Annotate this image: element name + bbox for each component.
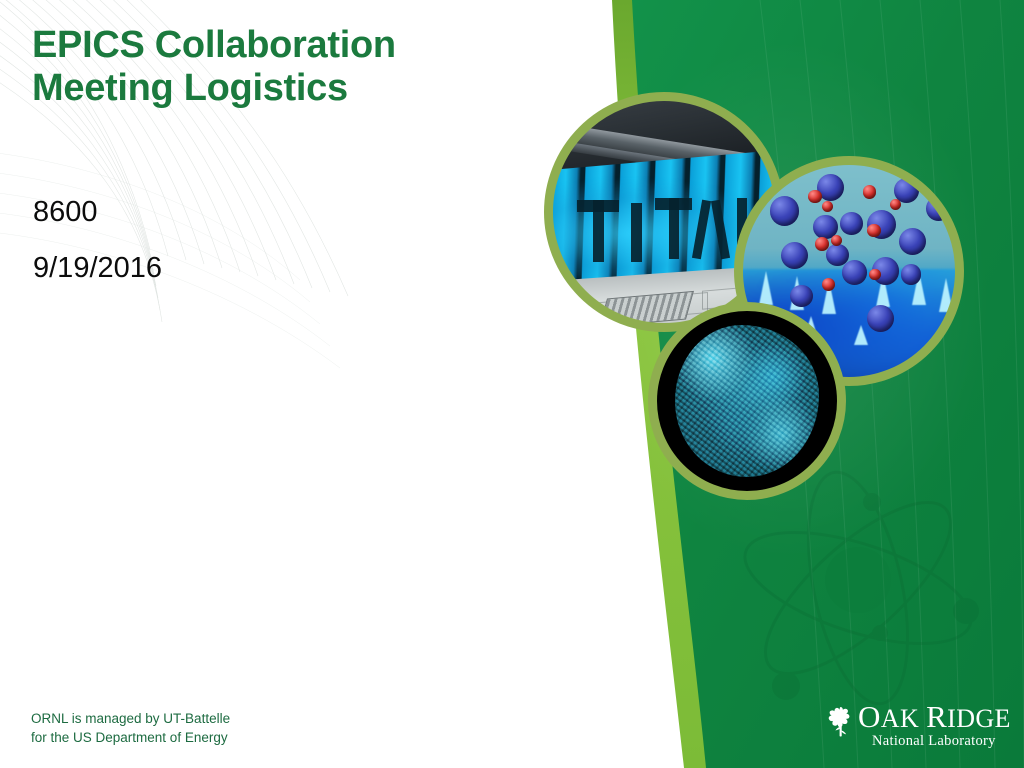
slide-canvas: EPICS Collaboration Meeting Logistics 86… (0, 0, 1024, 768)
ornl-logo-name: OAK RIDGE (858, 702, 1011, 732)
logo-o: O (858, 699, 881, 734)
footer-credit: ORNL is managed by UT-Battelle for the U… (31, 709, 230, 747)
logo-r: R (926, 699, 947, 734)
ornl-logo: OAK RIDGE National Laboratory (826, 702, 998, 754)
slide-body: 8600 9/19/2016 (33, 198, 493, 310)
green-panel-background (0, 0, 1024, 768)
body-line-room-number: 8600 (33, 198, 493, 227)
oak-leaf-icon (826, 705, 856, 739)
logo-idge: IDGE (947, 704, 1011, 733)
slide-title: EPICS Collaboration Meeting Logistics (32, 24, 552, 110)
mesh-wave-pattern (0, 0, 1024, 768)
ornl-logo-subtitle: National Laboratory (872, 732, 1011, 750)
body-line-date: 9/19/2016 (33, 254, 493, 283)
atom-watermark (732, 463, 984, 712)
protein-circle-ring (648, 302, 846, 500)
ornl-logo-wordmark: OAK RIDGE National Laboratory (858, 702, 1011, 751)
logo-ak: AK (881, 704, 926, 733)
